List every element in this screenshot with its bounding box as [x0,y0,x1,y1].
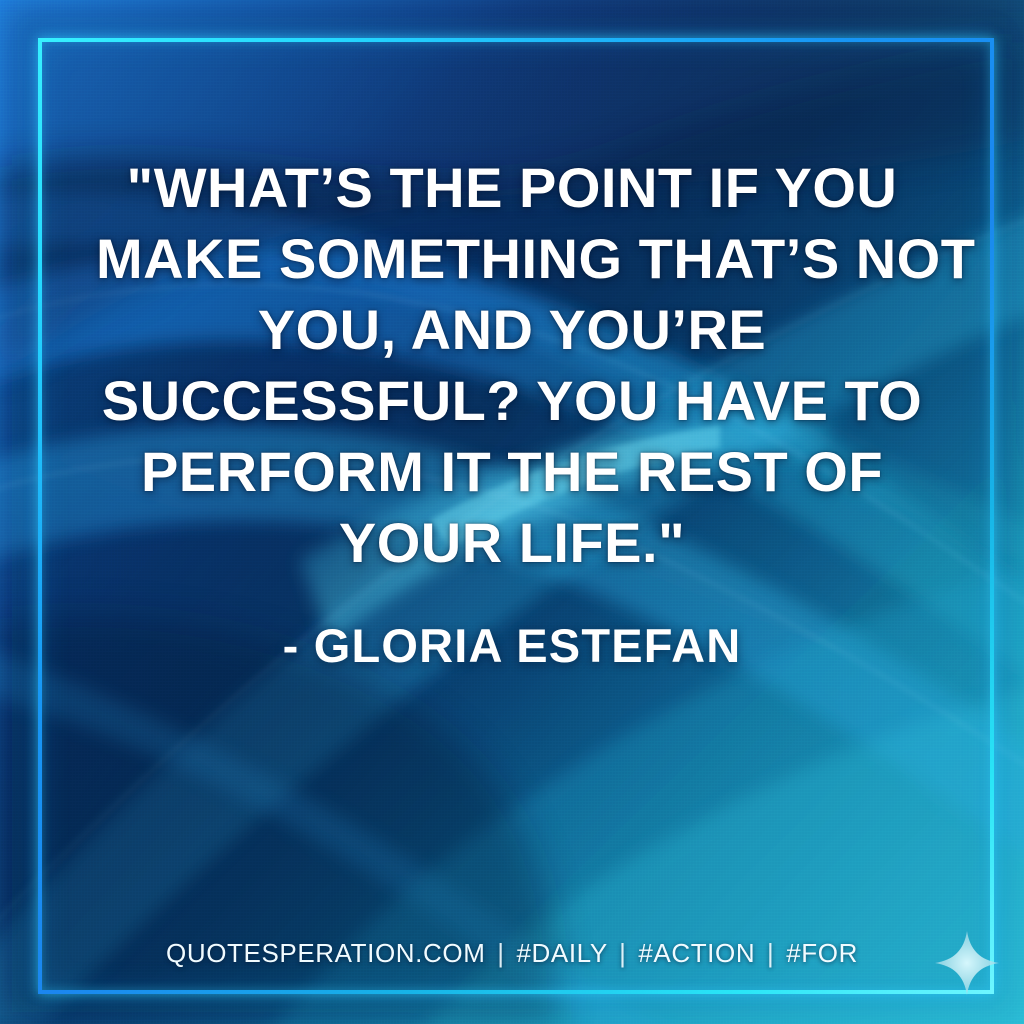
quote-line: MAKE SOMETHING THAT’S NOT [96,223,928,294]
footer-separator: | [493,938,508,968]
footer-site-url: QUOTESPERATION.COM [166,938,485,968]
quote-line: "WHAT’S THE POINT IF YOU [96,152,928,223]
quote-attribution: - GLORIA ESTEFAN [96,616,928,676]
quote-text: "WHAT’S THE POINT IF YOU MAKE SOMETHING … [96,152,928,578]
quote-card: "WHAT’S THE POINT IF YOU MAKE SOMETHING … [0,0,1024,1024]
quote-line: PERFORM IT THE REST OF [96,436,928,507]
footer-separator: | [615,938,630,968]
quote-line: YOUR LIFE." [96,507,928,578]
quote-line: YOU, AND YOU’RE [96,294,928,365]
footer-credit-bar: QUOTESPERATION.COM | #DAILY | #ACTION | … [0,938,1024,969]
footer-separator: | [763,938,778,968]
footer-tag-action: #ACTION [638,938,755,968]
footer-tag-daily: #DAILY [516,938,607,968]
quote-line: SUCCESSFUL? YOU HAVE TO [96,365,928,436]
footer-tag-for: #FOR [786,938,858,968]
